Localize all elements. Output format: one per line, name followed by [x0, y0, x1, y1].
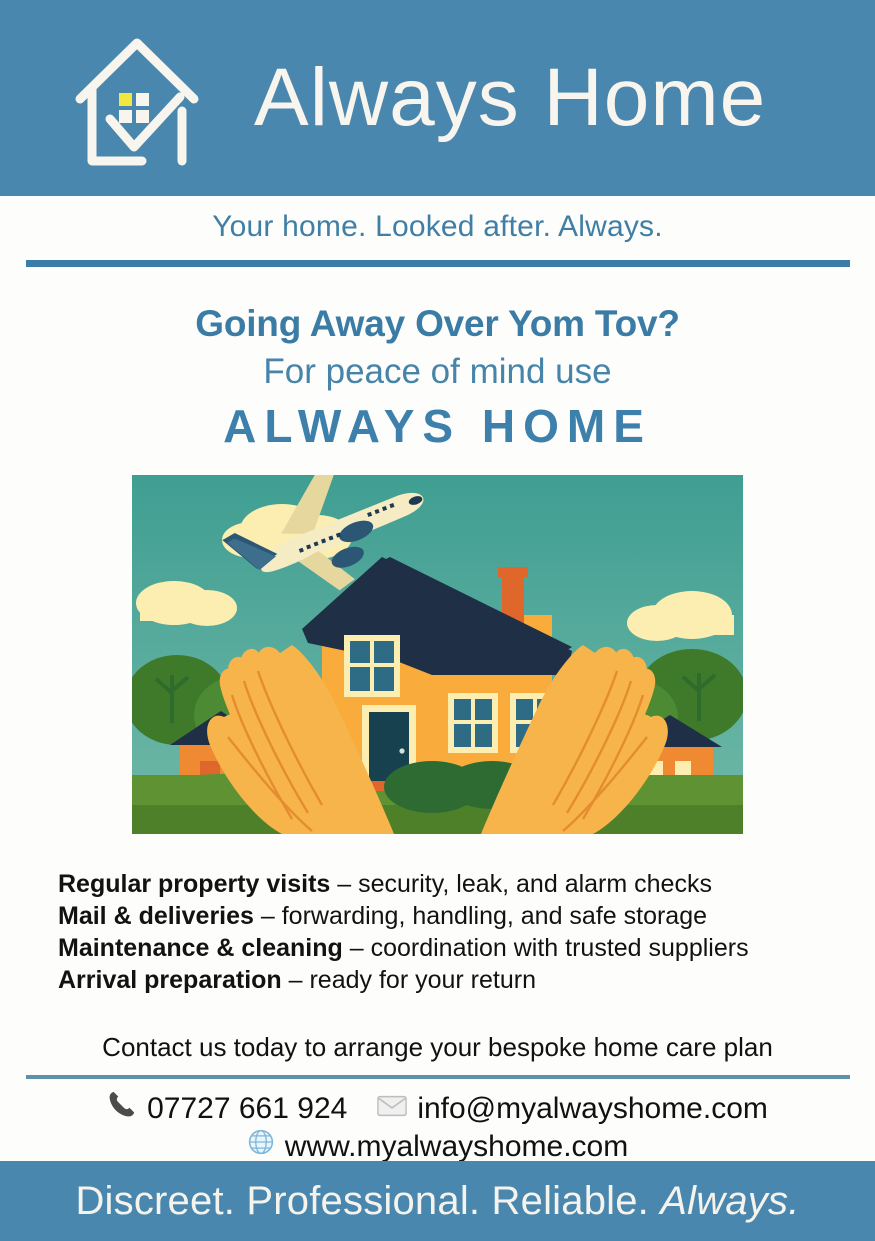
service-desc: security, leak, and alarm checks [358, 870, 712, 898]
footer-slogan: Discreet. Professional. Reliable. Always… [75, 1179, 799, 1224]
tagline-section: Your home. Looked after. Always. [0, 196, 875, 267]
telephone-receiver-icon [107, 1089, 137, 1129]
headline-subtitle: For peace of mind use [0, 352, 875, 392]
headline-question: Going Away Over Yom Tov? [0, 303, 875, 346]
list-item: Mail & deliveries – forwarding, handling… [58, 900, 875, 932]
service-dash: – [343, 934, 371, 962]
footer-slogan-main: Discreet. Professional. Reliable. [75, 1179, 660, 1223]
service-desc: forwarding, handling, and safe storage [282, 902, 707, 930]
phone-number[interactable]: 07727 661 924 [147, 1090, 347, 1128]
contact-row-primary: 07727 661 924 info@myalwayshome.com [0, 1089, 875, 1129]
service-desc: ready for your return [309, 966, 536, 994]
list-item: Maintenance & cleaning – coordination wi… [58, 932, 875, 964]
service-dash: – [330, 870, 358, 898]
page-header: Always Home [0, 0, 875, 196]
service-title: Mail & deliveries [58, 902, 254, 930]
services-list: Regular property visits – security, leak… [58, 868, 875, 996]
service-dash: – [254, 902, 282, 930]
page-footer: Discreet. Professional. Reliable. Always… [0, 1161, 875, 1241]
envelope-icon [377, 1090, 407, 1128]
house-check-window-icon [62, 23, 212, 173]
list-item: Arrival preparation – ready for your ret… [58, 964, 875, 996]
footer-slogan-emphasis: Always. [660, 1179, 799, 1223]
service-title: Maintenance & cleaning [58, 934, 343, 962]
service-title: Regular property visits [58, 870, 330, 898]
headline-wordmark: ALWAYS HOME [0, 400, 875, 453]
service-desc: coordination with trusted suppliers [371, 934, 749, 962]
tagline-text: Your home. Looked after. Always. [0, 210, 875, 244]
list-item: Regular property visits – security, leak… [58, 868, 875, 900]
service-dash: – [282, 966, 310, 994]
service-title: Arrival preparation [58, 966, 282, 994]
headline-section: Going Away Over Yom Tov? For peace of mi… [0, 303, 875, 453]
brand-title: Always Home [254, 57, 766, 139]
email-address[interactable]: info@myalwayshome.com [417, 1090, 768, 1128]
contact-block: 07727 661 924 info@myalwayshome.com www.… [0, 1089, 875, 1166]
header-divider [26, 260, 850, 267]
hero-illustration [132, 475, 743, 834]
contact-divider [26, 1075, 850, 1079]
cta-text: Contact us today to arrange your bespoke… [0, 1032, 875, 1063]
